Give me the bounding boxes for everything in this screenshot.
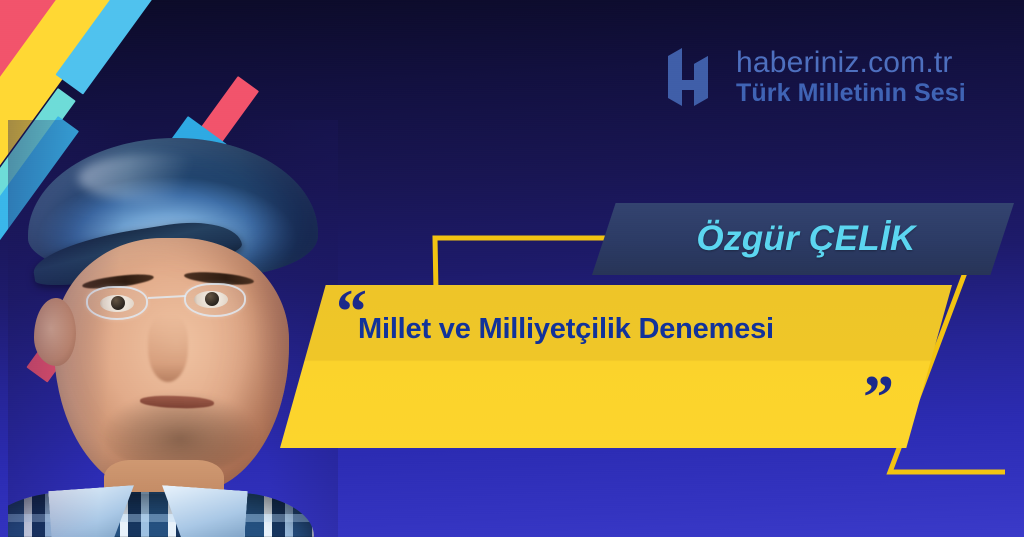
article-banner: haberiniz.com.tr Türk Milletinin Sesi Öz…: [0, 0, 1024, 537]
author-name: Özgür ÇELİK: [690, 219, 915, 259]
ear: [34, 298, 76, 366]
cyan-stripe-2: [56, 0, 254, 95]
lens-right: [184, 283, 246, 317]
author-name-banner[interactable]: Özgür ÇELİK: [592, 203, 1014, 275]
nose: [148, 316, 188, 382]
article-title-banner[interactable]: “ Millet ve Milliyetçilik Denemesi ”: [280, 285, 952, 448]
cap-highlight: [78, 154, 228, 202]
author-portrait: [8, 120, 338, 537]
portrait-illustration: [8, 120, 338, 537]
site-logo[interactable]: haberiniz.com.tr Türk Milletinin Sesi: [668, 46, 966, 108]
lens-left: [86, 286, 148, 320]
logo-text: haberiniz.com.tr Türk Milletinin Sesi: [736, 47, 966, 106]
site-name: haberiniz.com.tr: [736, 47, 966, 79]
eyeglasses-icon: [86, 286, 272, 322]
glasses-bridge: [148, 295, 186, 299]
article-title: Millet ve Milliyetçilik Denemesi: [358, 313, 898, 346]
site-tagline: Türk Milletinin Sesi: [736, 80, 966, 107]
closing-quote-icon: ”: [863, 367, 894, 429]
letter-h-monogram-icon: [668, 46, 716, 108]
